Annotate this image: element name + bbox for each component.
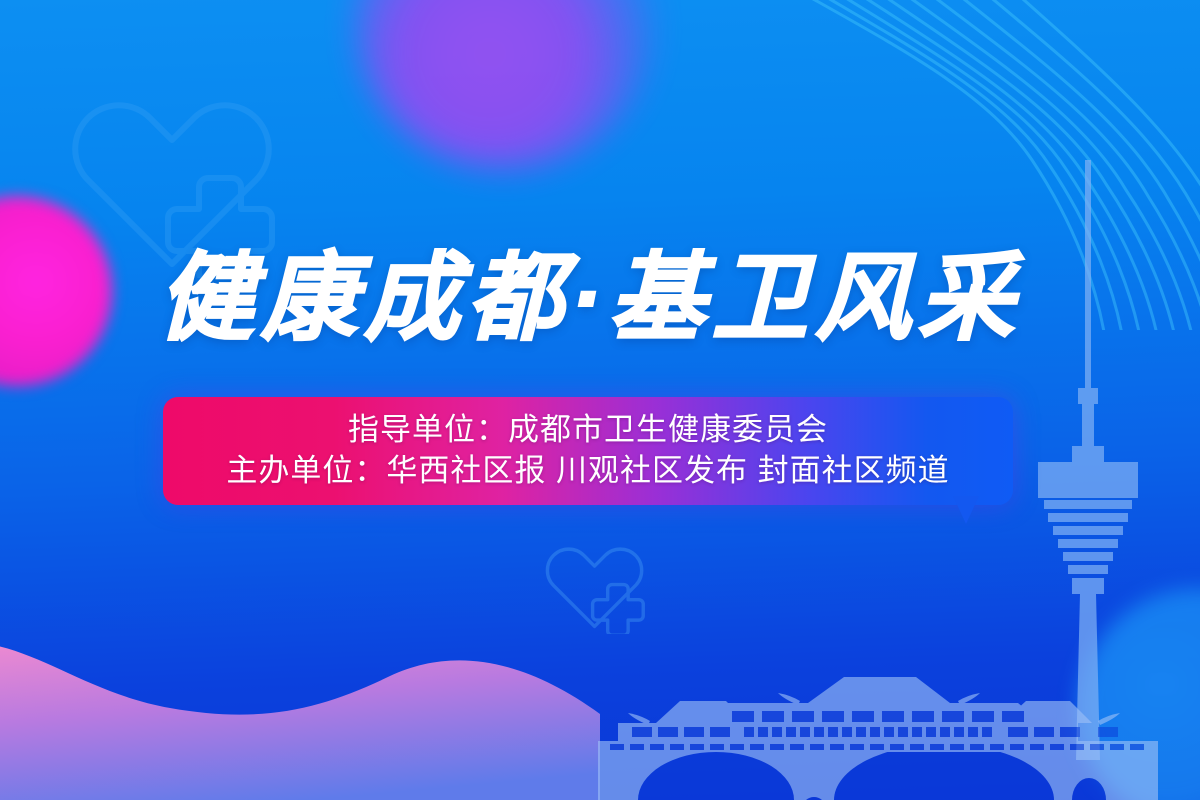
poster-canvas: 健康成都·基卫风采 指导单位：成都市卫生健康委员会 主办单位：华西社区报 川观社… (0, 0, 1200, 800)
banner-body: 指导单位：成都市卫生健康委员会 主办单位：华西社区报 川观社区发布 封面社区频道 (163, 397, 1013, 505)
host-unit-line: 主办单位：华西社区报 川观社区发布 封面社区频道 (189, 450, 987, 491)
banner-tail (953, 496, 979, 524)
arch-bridge-icon (598, 675, 1158, 800)
page-title: 健康成都·基卫风采 (158, 243, 1038, 355)
pink-wave-shape (0, 582, 600, 800)
magenta-circle-blob (0, 196, 112, 386)
heart-cross-icon (540, 540, 652, 634)
cyan-glow-blob (1078, 588, 1200, 800)
guidance-unit-line: 指导单位：成都市卫生健康委员会 (189, 409, 987, 450)
organizer-banner: 指导单位：成都市卫生健康委员会 主办单位：华西社区报 川观社区发布 封面社区频道 (163, 397, 1013, 505)
purple-glow-blob (355, 0, 655, 170)
